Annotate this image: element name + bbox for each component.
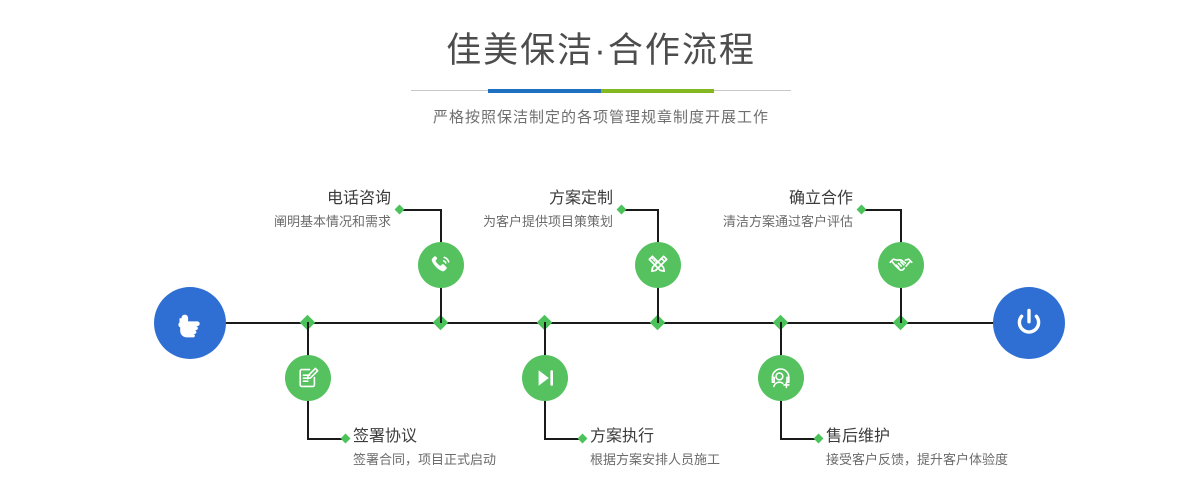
step-label-bottom-3: 售后维护 接受客户反馈，提升客户体验度 xyxy=(826,426,1086,470)
play-skip-icon xyxy=(531,364,559,392)
step-title: 确立合作 xyxy=(620,188,853,210)
handshake-icon xyxy=(887,251,915,279)
step-title: 方案定制 xyxy=(380,188,613,210)
phone-call-icon xyxy=(427,251,455,279)
node-icon-bottom-1 xyxy=(285,355,331,401)
step-desc: 签署合同，项目正式启动 xyxy=(353,450,593,470)
step-label-top-1: 电话咨询 阐明基本情况和需求 xyxy=(155,188,391,232)
step-label-bottom-2: 方案执行 根据方案安排人员施工 xyxy=(590,426,830,470)
title-divider xyxy=(411,86,791,96)
step-title: 方案执行 xyxy=(590,426,830,448)
node-icon-bottom-3 xyxy=(758,355,804,401)
step-desc: 根据方案安排人员施工 xyxy=(590,450,830,470)
header: 佳美保洁·合作流程 严格按照保洁制定的各项管理规章制度开展工作 xyxy=(0,28,1202,127)
node-icon-bottom-2 xyxy=(522,355,568,401)
page-subtitle: 严格按照保洁制定的各项管理规章制度开展工作 xyxy=(0,106,1202,127)
headset-support-icon xyxy=(767,364,795,392)
pointing-hand-icon xyxy=(170,303,210,343)
timeline-start-node xyxy=(154,287,226,359)
branch-hline-bottom-3 xyxy=(780,438,818,440)
process-flow-infographic: 佳美保洁·合作流程 严格按照保洁制定的各项管理规章制度开展工作 xyxy=(0,0,1202,502)
branch-hline-bottom-2 xyxy=(544,438,582,440)
timeline-end-node xyxy=(993,287,1065,359)
power-icon xyxy=(1009,303,1049,343)
page-title: 佳美保洁·合作流程 xyxy=(0,28,1202,74)
divider-segment-blue xyxy=(488,89,601,93)
node-icon-top-1 xyxy=(418,242,464,288)
pencil-ruler-icon xyxy=(644,251,672,279)
label-marker-bottom-1 xyxy=(341,434,351,444)
divider-segment-green xyxy=(601,89,714,93)
step-label-bottom-1: 签署协议 签署合同，项目正式启动 xyxy=(353,426,593,470)
step-desc: 接受客户反馈，提升客户体验度 xyxy=(826,450,1086,470)
step-desc: 清洁方案通过客户评估 xyxy=(620,212,853,232)
label-marker-top-3 xyxy=(857,205,867,215)
node-icon-top-2 xyxy=(635,242,681,288)
node-icon-top-3 xyxy=(878,242,924,288)
step-title: 电话咨询 xyxy=(155,188,391,210)
step-label-top-3: 确立合作 清洁方案通过客户评估 xyxy=(620,188,853,232)
step-title: 签署协议 xyxy=(353,426,593,448)
step-desc: 为客户提供项目策策划 xyxy=(380,212,613,232)
branch-hline-bottom-1 xyxy=(307,438,345,440)
step-desc: 阐明基本情况和需求 xyxy=(155,212,391,232)
branch-hline-top-3 xyxy=(862,209,902,211)
document-edit-icon xyxy=(294,364,322,392)
step-title: 售后维护 xyxy=(826,426,1086,448)
step-label-top-2: 方案定制 为客户提供项目策策划 xyxy=(380,188,613,232)
